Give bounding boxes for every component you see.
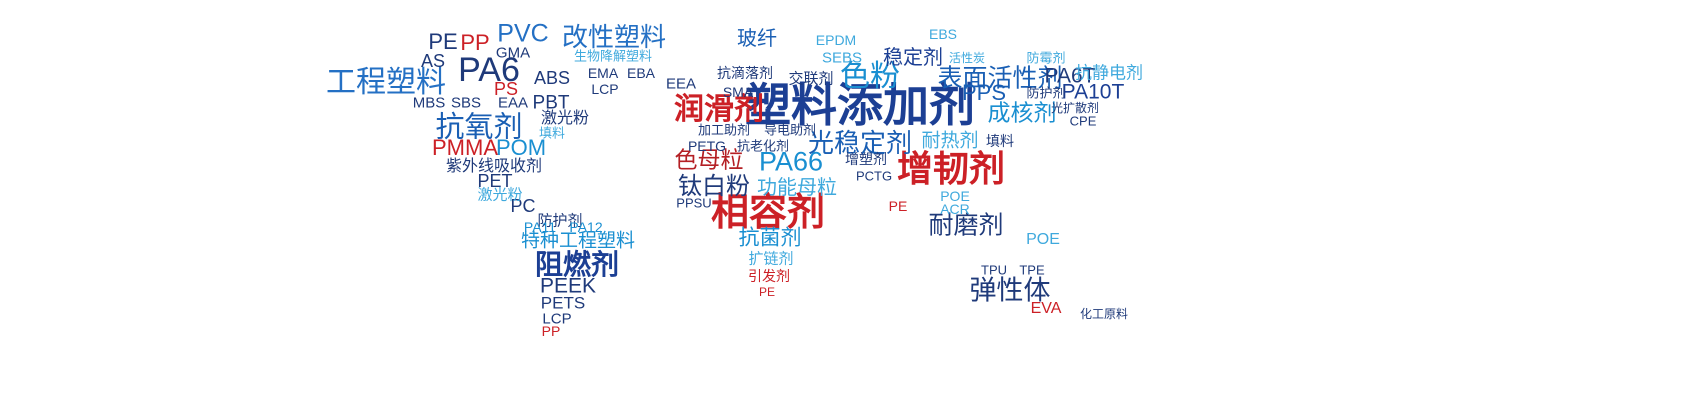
wordcloud-word[interactable]: SEBS bbox=[822, 51, 862, 66]
wordcloud-word[interactable]: 引发剂 bbox=[748, 270, 790, 284]
wordcloud-word[interactable]: 工程塑料 bbox=[326, 68, 446, 98]
wordcloud-word[interactable]: 导电助剂 bbox=[764, 125, 816, 138]
wordcloud-word[interactable]: 防霉剂 bbox=[1026, 53, 1065, 66]
wordcloud-canvas: 塑料添加剂相容剂增韧剂润滑剂工程塑料阻燃剂色粉抗氧剂PA6改性塑料表面活性剂光稳… bbox=[0, 0, 1707, 400]
wordcloud-word[interactable]: 扩链剂 bbox=[748, 252, 793, 267]
wordcloud-word[interactable]: 光扩散剂 bbox=[1051, 102, 1099, 114]
wordcloud-word[interactable]: 化工原料 bbox=[1080, 308, 1128, 320]
wordcloud-word[interactable]: 抗老化剂 bbox=[737, 141, 789, 154]
wordcloud-word[interactable]: PA12 bbox=[569, 220, 602, 234]
wordcloud-word[interactable]: MBS bbox=[413, 96, 446, 111]
wordcloud-word[interactable]: SMA bbox=[723, 85, 753, 99]
wordcloud-word[interactable]: AS bbox=[421, 52, 445, 70]
wordcloud-word[interactable]: EEA bbox=[666, 77, 696, 92]
wordcloud-word[interactable]: 抗菌剂 bbox=[739, 228, 802, 249]
wordcloud-word[interactable]: EPDM bbox=[816, 33, 856, 47]
wordcloud-word[interactable]: EBS bbox=[929, 27, 957, 41]
wordcloud-word[interactable]: ABS bbox=[534, 69, 570, 87]
wordcloud-word[interactable]: 激光粉 bbox=[541, 110, 589, 126]
wordcloud-word[interactable]: PPSU bbox=[676, 197, 711, 210]
wordcloud-word[interactable]: 功能母粒 bbox=[757, 177, 837, 197]
wordcloud-word[interactable]: 防护剂 bbox=[1026, 88, 1065, 101]
wordcloud-word[interactable]: 玻纤 bbox=[737, 28, 777, 48]
wordcloud-word[interactable]: 激光粉 bbox=[477, 188, 522, 203]
wordcloud-word[interactable]: 活性炭 bbox=[949, 52, 985, 64]
wordcloud-word[interactable]: 耐热剂 bbox=[921, 132, 978, 151]
wordcloud-word[interactable]: PETG bbox=[688, 139, 726, 153]
wordcloud-word[interactable]: PCTG bbox=[856, 170, 892, 183]
wordcloud-word[interactable]: EVA bbox=[1031, 301, 1062, 317]
wordcloud-word[interactable]: PPS bbox=[962, 82, 1006, 104]
wordcloud-word[interactable]: PP bbox=[460, 32, 489, 54]
wordcloud-word[interactable]: EMA bbox=[588, 66, 618, 80]
wordcloud-word[interactable]: SBS bbox=[451, 96, 481, 111]
wordcloud-word[interactable]: 抗静电剂 bbox=[1075, 66, 1143, 83]
wordcloud-word[interactable]: 改性塑料 bbox=[562, 25, 666, 51]
wordcloud-word[interactable]: 钛白粉 bbox=[678, 174, 750, 198]
wordcloud-word[interactable]: 增塑剂 bbox=[845, 153, 887, 167]
wordcloud-word[interactable]: ACR bbox=[940, 202, 970, 216]
wordcloud-word[interactable]: PETS bbox=[541, 295, 585, 312]
wordcloud-word[interactable]: 增韧剂 bbox=[897, 152, 1005, 188]
wordcloud-word[interactable]: TPU bbox=[981, 264, 1007, 277]
wordcloud-word[interactable]: GMA bbox=[496, 46, 530, 61]
wordcloud-word[interactable]: PE bbox=[759, 286, 775, 298]
wordcloud-word[interactable]: PP bbox=[542, 324, 561, 338]
wordcloud-word[interactable]: 抗滴落剂 bbox=[717, 67, 773, 81]
wordcloud-word[interactable]: CPE bbox=[1070, 115, 1097, 128]
wordcloud-word[interactable]: TPE bbox=[1019, 264, 1044, 277]
wordcloud-word[interactable]: 填料 bbox=[986, 135, 1014, 149]
wordcloud-word[interactable]: 稳定剂 bbox=[883, 47, 943, 67]
wordcloud-word[interactable]: 交联剂 bbox=[788, 72, 833, 87]
wordcloud-word[interactable]: 生物降解塑料 bbox=[574, 51, 652, 64]
wordcloud-word[interactable]: PA11 bbox=[524, 220, 556, 234]
wordcloud-word[interactable]: LCP bbox=[591, 82, 618, 96]
wordcloud-word[interactable]: 填料 bbox=[539, 128, 565, 141]
wordcloud-word[interactable]: EAA bbox=[498, 96, 528, 111]
wordcloud-word[interactable]: PVC bbox=[497, 22, 548, 47]
wordcloud-word[interactable]: PE bbox=[428, 31, 457, 53]
wordcloud-word[interactable]: POE bbox=[1026, 232, 1060, 248]
wordcloud-word[interactable]: 成核剂 bbox=[988, 103, 1057, 126]
wordcloud-word[interactable]: PE bbox=[889, 199, 908, 213]
wordcloud-word[interactable]: 加工助剂 bbox=[698, 125, 750, 138]
wordcloud-word[interactable]: EBA bbox=[627, 66, 655, 80]
